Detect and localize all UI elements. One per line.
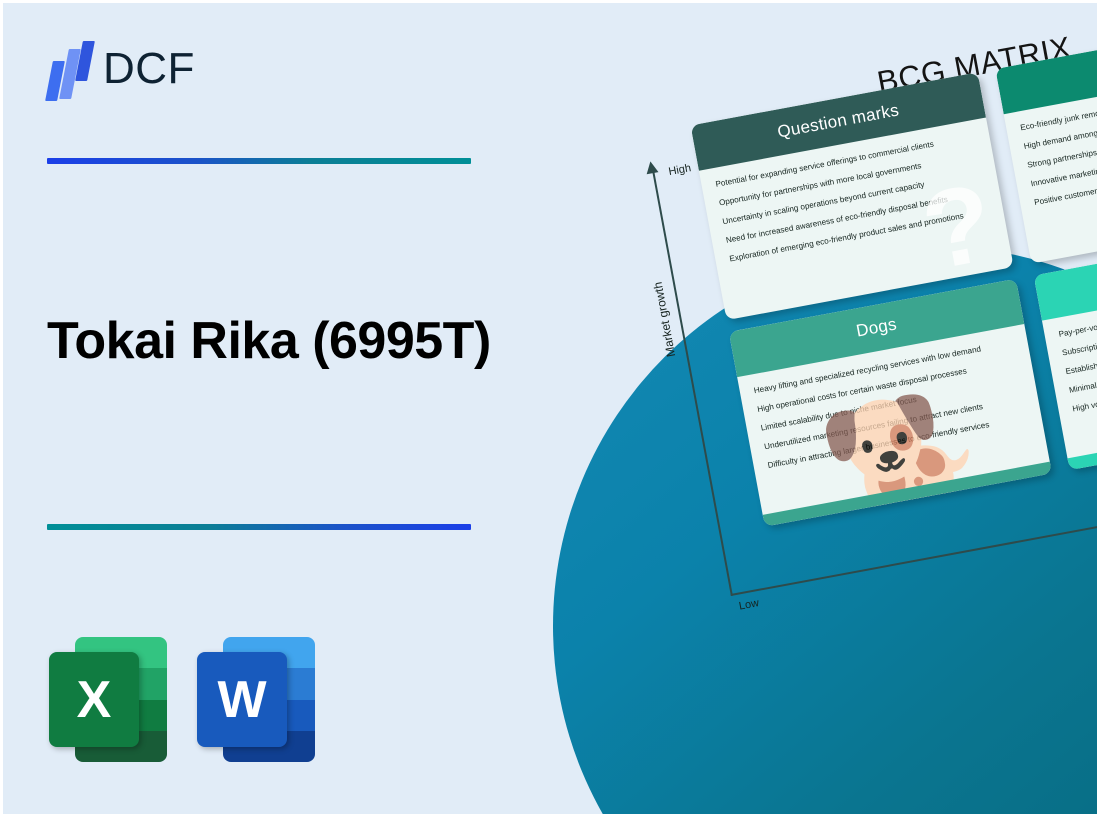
word-letter: W — [197, 652, 287, 747]
file-format-icons: X W — [49, 637, 315, 762]
excel-letter: X — [49, 652, 139, 747]
quadrant-stars[interactable]: Stars ★ Eco-friendly junk removal servic… — [995, 16, 1100, 264]
quadrant-dogs[interactable]: Dogs 🐕 Heavy lifting and specialized rec… — [729, 279, 1052, 527]
dcf-bars-icon — [47, 39, 93, 99]
brand-logo-text: DCF — [103, 47, 195, 91]
quadrant-footer-cash-cows — [1067, 405, 1100, 470]
brand-logo: DCF — [47, 39, 195, 99]
divider-bottom — [47, 524, 471, 530]
bcg-matrix-graphic: BCG MATRIX High Low Market share Market … — [523, 3, 1100, 817]
divider-top — [47, 158, 471, 164]
axis-label-high: High — [668, 162, 692, 178]
y-axis-arrow-icon — [644, 160, 658, 174]
excel-icon[interactable]: X — [49, 637, 167, 762]
matrix-plane: High Low Market share Market growth Ques… — [627, 6, 1100, 555]
slide-canvas: DCF Tokai Rika (6995T) X W BCG MATRIX Hi… — [0, 0, 1100, 817]
page-title: Tokai Rika (6995T) — [47, 313, 567, 370]
quadrant-question-marks[interactable]: Question marks ? Potential for expanding… — [691, 72, 1014, 320]
word-icon[interactable]: W — [197, 637, 315, 762]
